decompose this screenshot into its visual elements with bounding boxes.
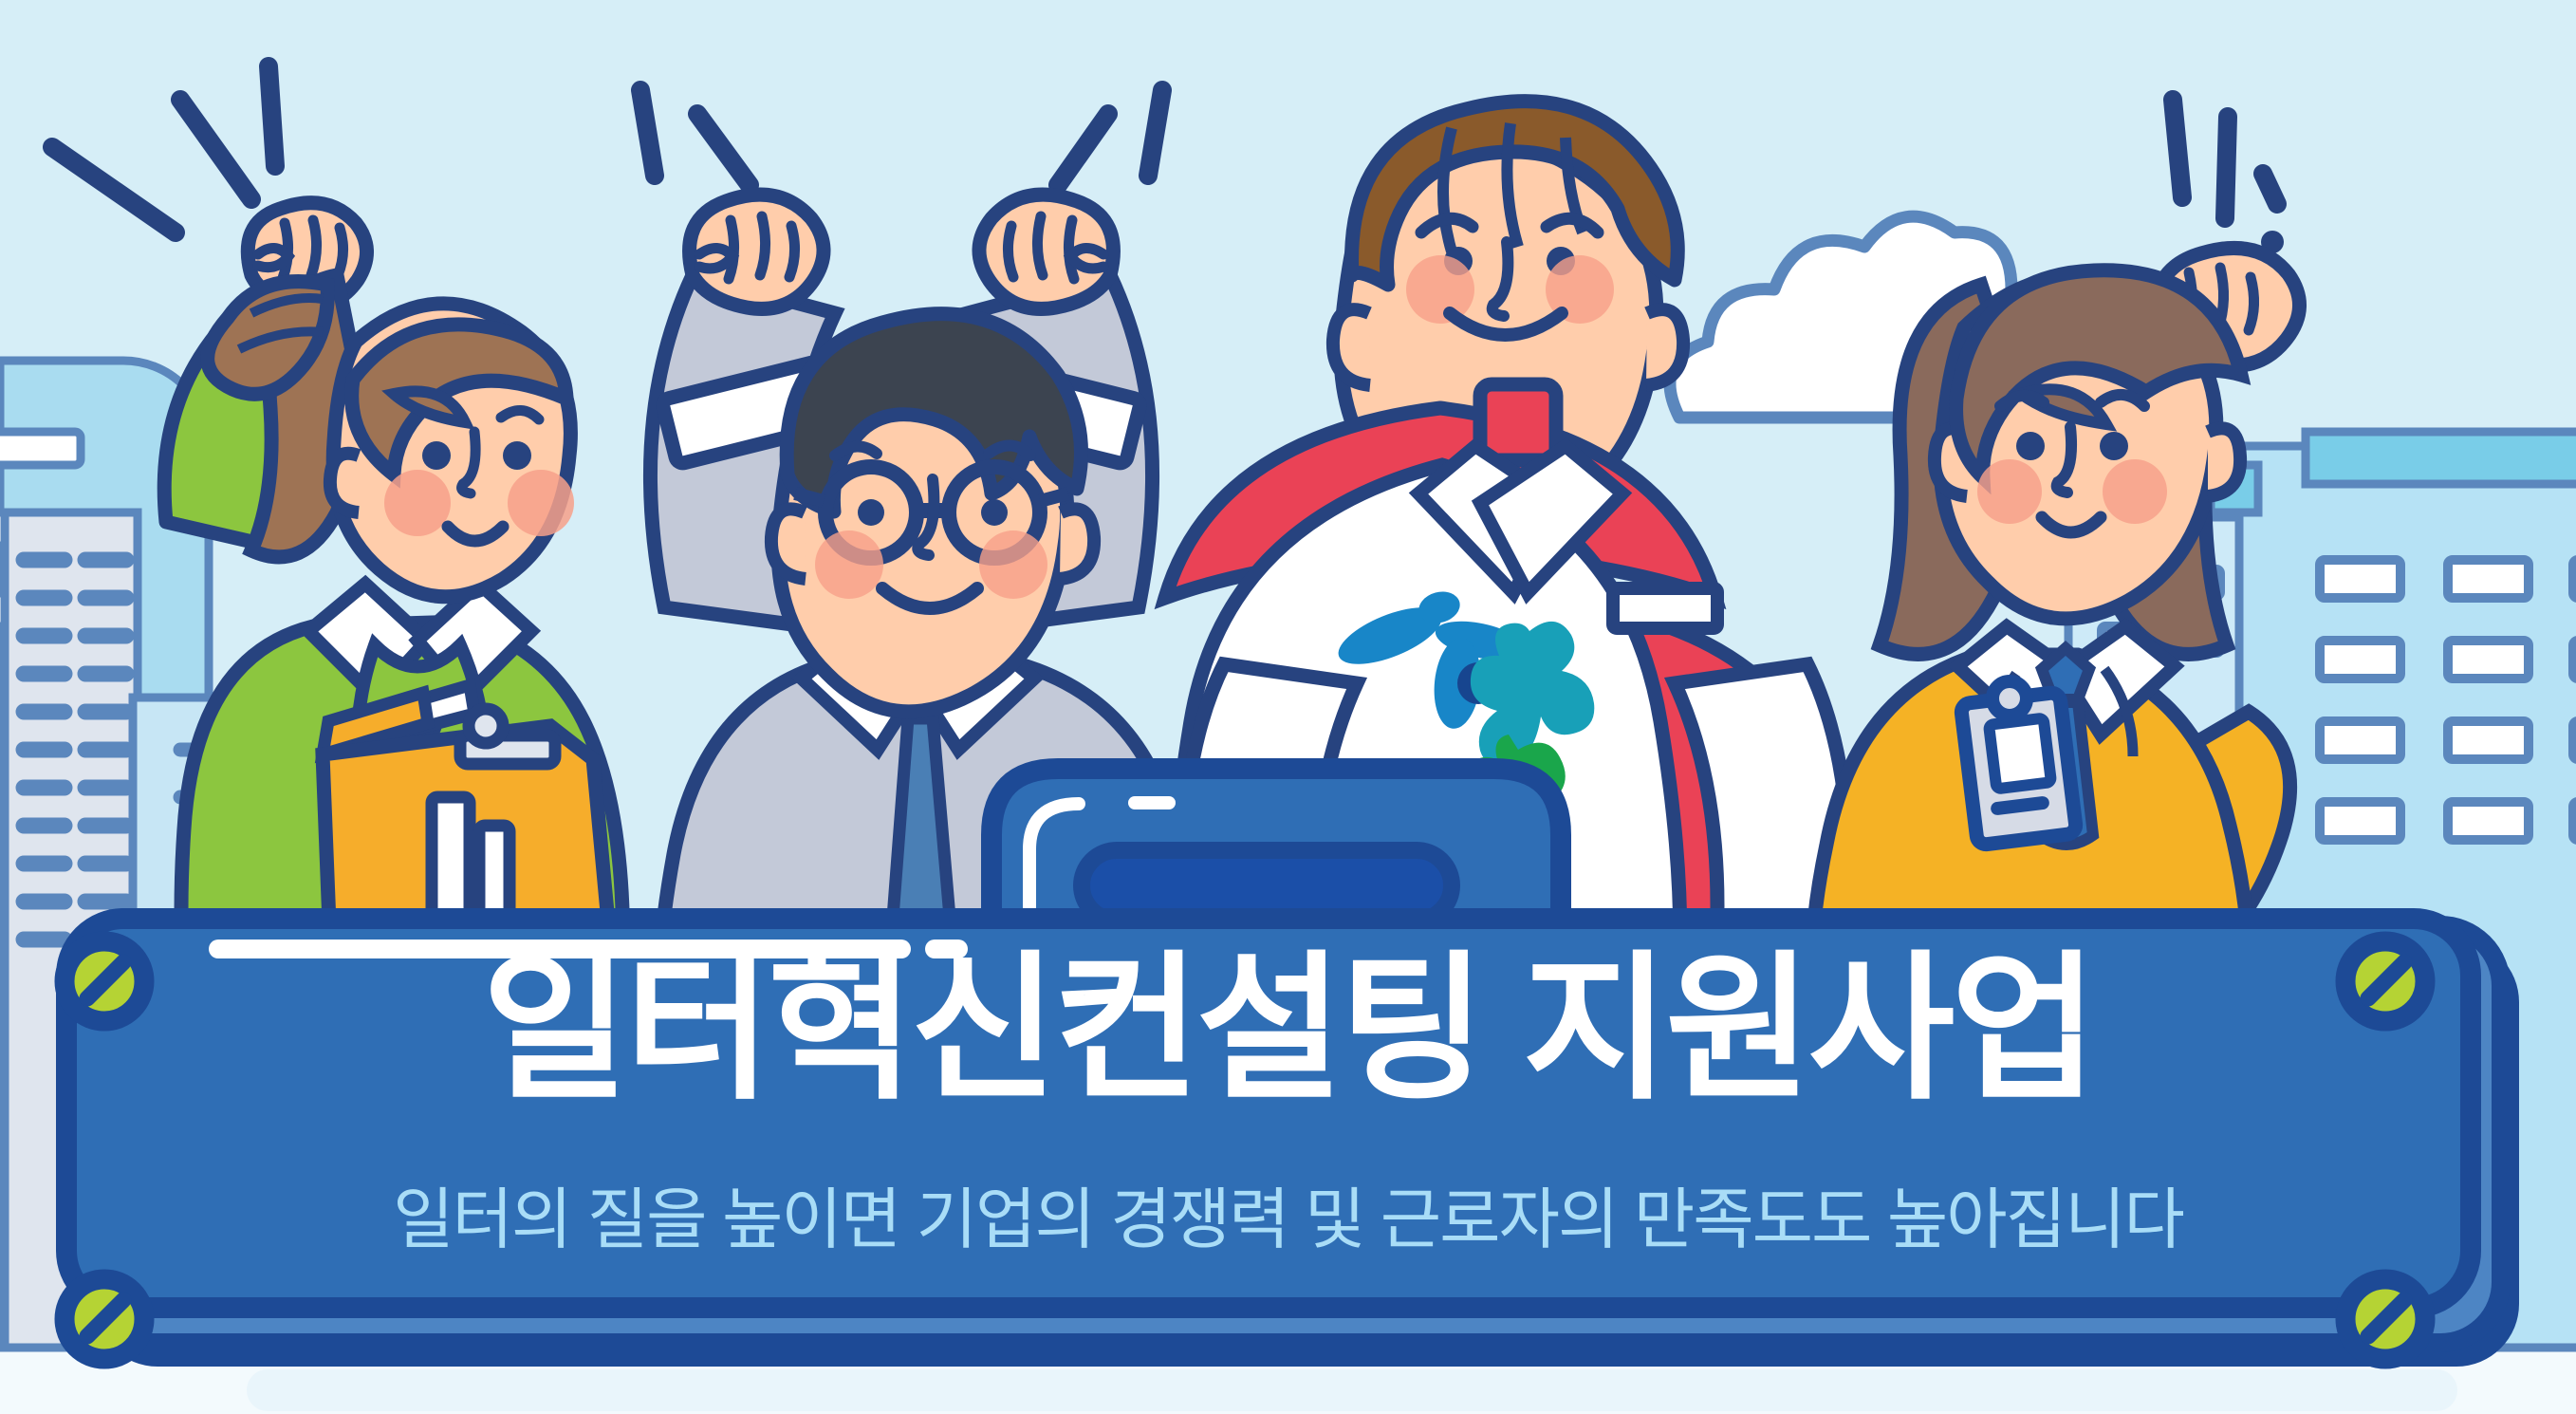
raised-fist-icon (979, 195, 1113, 308)
screw-icon (65, 1279, 144, 1359)
screw-icon (2345, 1279, 2425, 1359)
banner-subtitle: 일터의 질을 높이면 기업의 경쟁력 및 근로자의 만족도도 높아집니다 (0, 1186, 2576, 1253)
banner-title: 일터혁신컨설팅 지원사업 (0, 949, 2576, 1108)
banner-hero: 일터혁신컨설팅 지원사업 일터의 질을 높이면 기업의 경쟁력 및 근로자의 만… (0, 0, 2576, 1414)
raised-fist-icon (690, 195, 824, 308)
